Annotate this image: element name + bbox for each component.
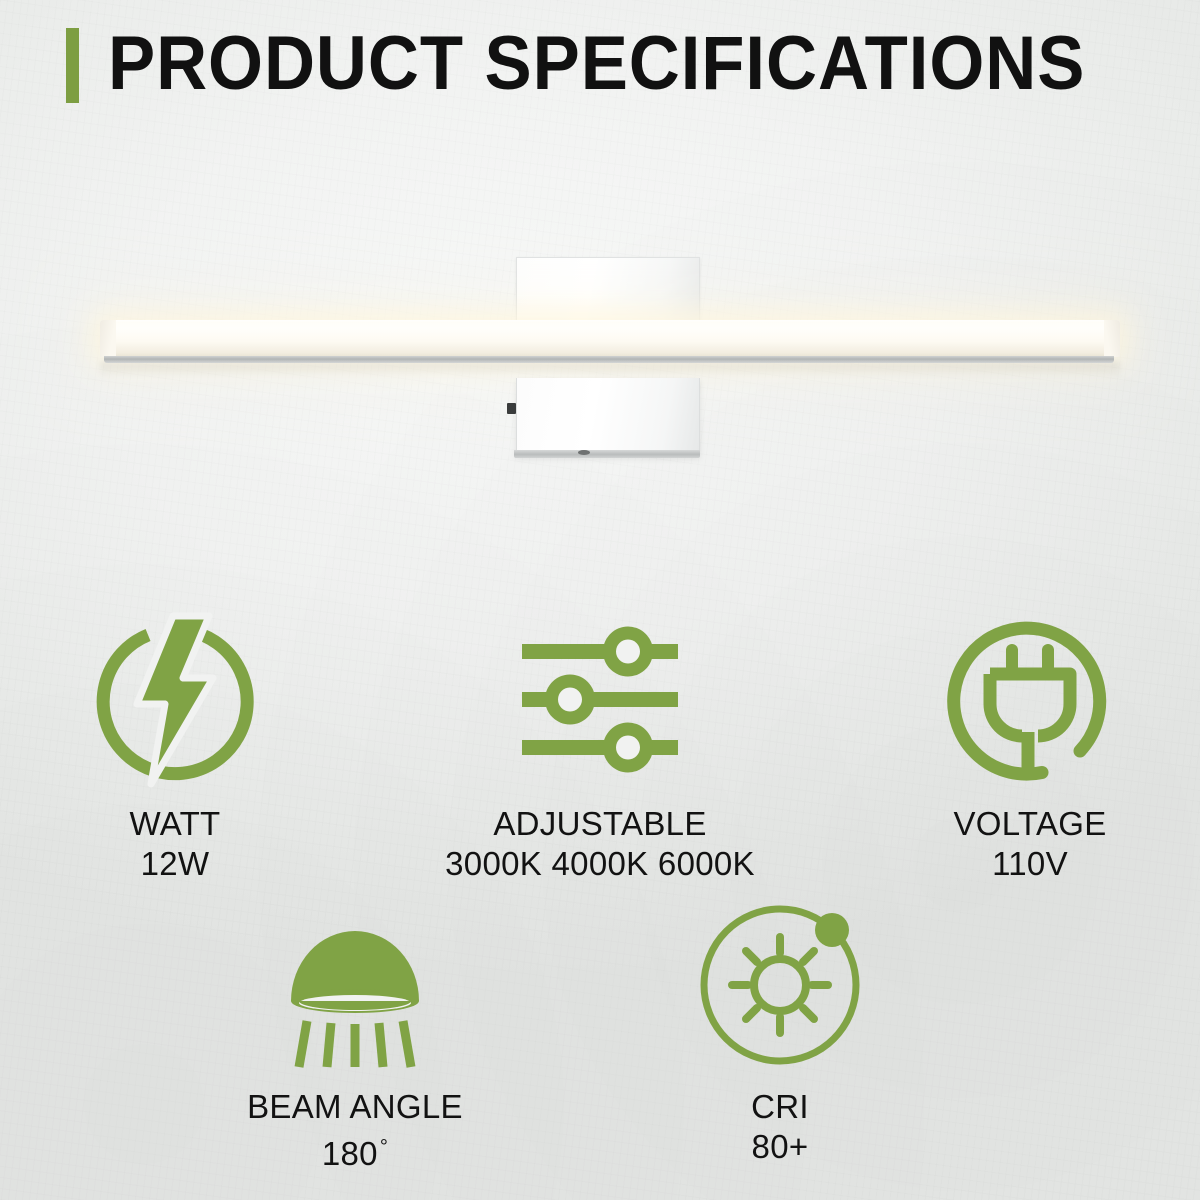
spec-item-cri: CRI 80+	[650, 897, 910, 1167]
spec-label-cri: CRI	[650, 1087, 910, 1127]
spec-item-adjustable: ADJUSTABLE 3000K 4000K 6000K	[420, 612, 780, 884]
spec-value-beam-angle: 180°	[225, 1127, 485, 1174]
page-title: PRODUCT SPECIFICATIONS	[108, 14, 1112, 114]
power-plug-in-circle-icon	[942, 612, 1118, 788]
mount-bracket-screw	[578, 450, 590, 455]
power-switch	[507, 403, 516, 414]
lightning-bolt-in-circle-icon	[87, 612, 263, 788]
sun-brightness-in-circle-icon	[692, 897, 868, 1073]
sliders-icon	[500, 612, 700, 788]
product-spec-infographic: PRODUCT SPECIFICATIONS WATT 12W	[0, 0, 1200, 1200]
led-bar-end-cap-left	[100, 320, 116, 357]
spec-label-beam-angle: BEAM ANGLE	[225, 1087, 485, 1127]
mount-bracket-lower	[516, 378, 700, 456]
spec-value-voltage: 110V	[900, 844, 1160, 884]
spec-value-adjustable: 3000K 4000K 6000K	[420, 844, 780, 884]
led-light-bar	[100, 320, 1120, 357]
spec-value-cri: 80+	[650, 1127, 910, 1167]
spec-item-watt: WATT 12W	[45, 612, 305, 884]
spec-item-voltage: VOLTAGE 110V	[900, 612, 1160, 884]
product-photo	[0, 150, 1200, 590]
spec-label-adjustable: ADJUSTABLE	[420, 804, 780, 844]
mount-bracket-base	[514, 450, 700, 458]
header: PRODUCT SPECIFICATIONS	[0, 0, 1200, 140]
spec-value-watt: 12W	[45, 844, 305, 884]
led-bar-end-cap-right	[1104, 320, 1120, 357]
title-accent-bar	[66, 28, 79, 103]
wall-shadow	[100, 362, 1120, 378]
led-bar-chrome-underside	[104, 356, 1114, 363]
spec-label-voltage: VOLTAGE	[900, 804, 1160, 844]
degree-symbol: °	[380, 1136, 388, 1158]
lamp-shade-with-rays-icon	[267, 897, 443, 1073]
spec-item-beam-angle: BEAM ANGLE 180°	[225, 897, 485, 1174]
spec-label-watt: WATT	[45, 804, 305, 844]
beam-angle-number: 180	[322, 1135, 378, 1172]
